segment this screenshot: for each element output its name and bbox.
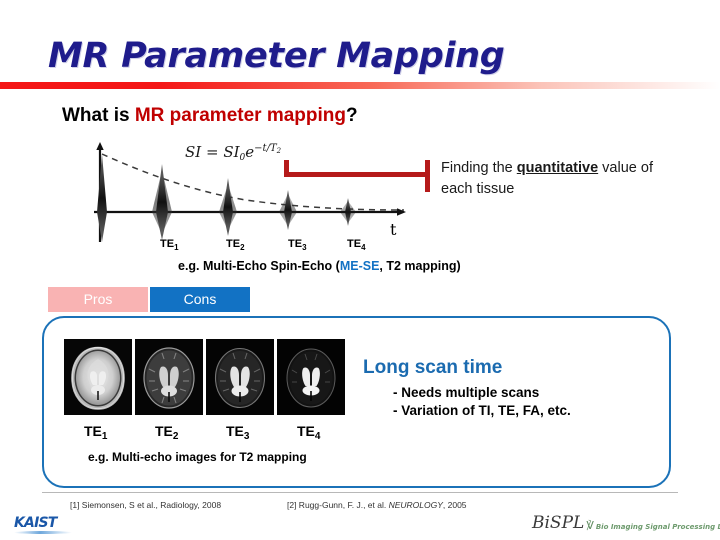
brain-image-label-3-text: TE <box>226 423 244 439</box>
echo-caption-highlight: ME-SE <box>340 259 380 273</box>
te-tick-3-text: TE <box>288 238 302 250</box>
brain-image-label-4: TE4 <box>297 423 320 442</box>
brain-image-strip <box>64 339 345 415</box>
reference-2-journal: NEUROLOGY <box>389 500 443 510</box>
echo-figure-caption: e.g. Multi-Echo Spin-Echo (ME-SE, T2 map… <box>178 259 461 273</box>
cons-bullet-2: - Variation of TI, TE, FA, etc. <box>393 403 571 418</box>
section-heading-highlight: MR parameter mapping <box>135 105 346 126</box>
reference-2: [2] Rugg-Gunn, F. J., et al. NEUROLOGY, … <box>287 500 467 510</box>
te-tick-3: TE3 <box>288 238 307 252</box>
cons-bullet-1: - Needs multiple scans <box>393 385 539 400</box>
te-tick-1-text: TE <box>160 238 174 250</box>
reference-1: [1] Siemonsen, S et al., Radiology, 2008 <box>70 500 221 510</box>
section-heading-tail: ? <box>346 105 358 126</box>
brain-mri-te2[interactable] <box>135 339 203 415</box>
te-tick-1-sub: 1 <box>174 243 178 252</box>
equation-exponent: −t/T <box>254 143 276 154</box>
brain-images-caption: e.g. Multi-echo images for T2 mapping <box>88 450 307 464</box>
title-underline-rule <box>0 82 720 89</box>
callout-emphasis: quantitative <box>517 160 598 176</box>
reference-2-tail: , 2005 <box>443 500 467 510</box>
te-tick-3-sub: 3 <box>302 243 306 252</box>
te-tick-4-sub: 4 <box>361 243 365 252</box>
bispl-logo: BiSPL ℣ Bio Imaging Signal Processing La… <box>532 514 720 533</box>
kaist-logo-swoosh <box>14 531 72 534</box>
echo-caption-lead: e.g. Multi-Echo Spin-Echo ( <box>178 259 340 273</box>
te-tick-2-text: TE <box>226 238 240 250</box>
bispl-logo-mark: BiSPL <box>532 514 584 533</box>
equation-lhs: SI <box>185 143 201 161</box>
equation-exp-e: e <box>245 143 254 161</box>
brain-image-label-1-sub: 1 <box>102 431 108 442</box>
te-tick-2-sub: 2 <box>240 243 244 252</box>
brain-image-label-2: TE2 <box>155 423 178 442</box>
brain-image-label-2-text: TE <box>155 423 173 439</box>
te-tick-4-text: TE <box>347 238 361 250</box>
bispl-logo-wave-icon: ℣ <box>586 518 594 533</box>
callout-bracket-svg <box>284 160 432 192</box>
callout-text: Finding the quantitative value of each t… <box>441 158 673 200</box>
kaist-logo-text: KAIST <box>14 516 76 530</box>
brain-image-label-1: TE1 <box>84 423 107 442</box>
section-heading-lead: What is <box>62 105 135 126</box>
callout-lead: Finding the <box>441 160 517 176</box>
cons-headline: Long scan time <box>363 357 502 379</box>
brain-image-label-3-sub: 3 <box>244 431 250 442</box>
brain-image-label-2-sub: 2 <box>173 431 179 442</box>
brain-image-label-1-text: TE <box>84 423 102 439</box>
tab-cons[interactable]: Cons <box>150 287 250 312</box>
brain-image-label-4-text: TE <box>297 423 315 439</box>
te-tick-2: TE2 <box>226 238 245 252</box>
time-axis-label: t <box>390 220 396 239</box>
equation-equals: = <box>206 143 219 161</box>
kaist-logo: KAIST <box>14 516 76 534</box>
te-tick-1: TE1 <box>160 238 179 252</box>
reference-2-lead: [2] Rugg-Gunn, F. J., et al. <box>287 500 389 510</box>
signal-equation: SI = SI0e−t/T2 <box>185 143 281 163</box>
callout-bracket <box>284 160 432 192</box>
equation-rhs-base: SI <box>223 143 239 161</box>
bispl-logo-tagline: Bio Imaging Signal Processing Lab <box>596 521 720 533</box>
tab-pros[interactable]: Pros <box>48 287 148 312</box>
section-heading: What is MR parameter mapping? <box>62 105 358 127</box>
equation-exponent-subscript: 2 <box>277 147 281 155</box>
brain-mri-te1[interactable] <box>64 339 132 415</box>
page-title: MR Parameter Mapping <box>48 36 505 76</box>
brain-image-label-4-sub: 4 <box>315 431 321 442</box>
footer-divider <box>42 492 678 493</box>
te-tick-4: TE4 <box>347 238 366 252</box>
echo-caption-tail: , T2 mapping) <box>379 259 460 273</box>
brain-mri-te3[interactable] <box>206 339 274 415</box>
brain-mri-te4[interactable] <box>277 339 345 415</box>
brain-image-label-3: TE3 <box>226 423 249 442</box>
